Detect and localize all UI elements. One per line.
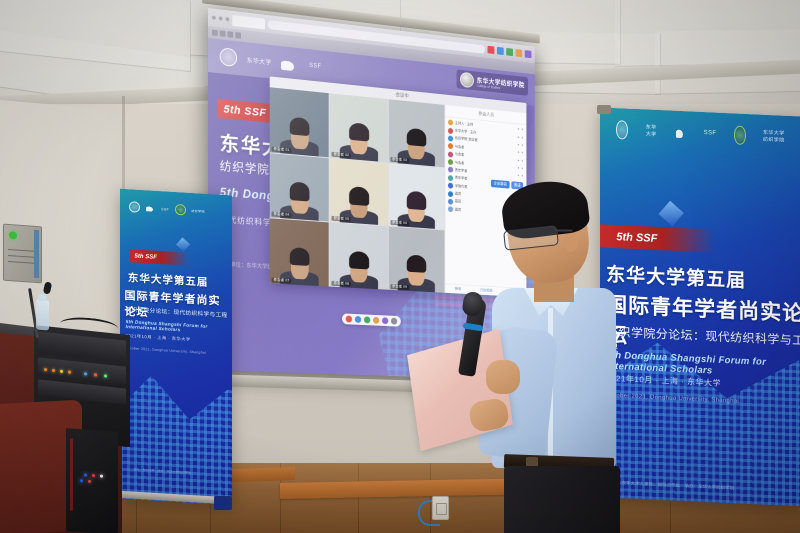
home-icon[interactable]: [235, 32, 241, 39]
participant-status-icons: ⏺ ⏹: [518, 143, 524, 147]
participant-video-grid: 参会者 01参会者 02参会者 03参会者 04参会者 05参会者 06参会者 …: [270, 87, 445, 293]
ssf-wave-logo-icon: [281, 56, 300, 72]
presenter-trousers: [504, 466, 620, 533]
avatar: [448, 159, 453, 165]
participant-name-label: 参会者 07: [272, 278, 292, 284]
forward-icon[interactable]: [220, 30, 226, 37]
chat-icon[interactable]: [382, 317, 388, 324]
college-of-textiles-seal-icon: [175, 204, 186, 216]
avatar: [448, 120, 453, 126]
slide-logo-ssf-text: SSF: [309, 63, 321, 70]
participant-video-tile[interactable]: 参会者 08: [330, 223, 388, 290]
extension-icon[interactable]: [488, 46, 495, 54]
participant-status-icons: ⏺ ⏹: [518, 135, 524, 139]
ssf-wave-logo-icon: [146, 205, 156, 213]
banner-right-top-cap: [597, 105, 611, 114]
participant-status-icons: ⏺ ⏹: [518, 174, 524, 178]
slide-logo-university-text: 东华大学: [247, 55, 272, 67]
participant-video-tile[interactable]: 参会者 04: [270, 153, 329, 222]
meeting-footer-button[interactable]: 静音: [455, 287, 461, 292]
tile-hair: [349, 186, 369, 205]
browser-dot-icon: [212, 15, 216, 19]
tile-hair: [407, 254, 426, 273]
banner-logo-ssf-text: SSF: [704, 130, 717, 137]
more-icon[interactable]: [391, 318, 397, 325]
presenter-hand-holding-mic: [486, 360, 520, 394]
participant-video-tile[interactable]: 参会者 09: [388, 227, 444, 293]
avatar: [448, 167, 453, 173]
tile-hair: [407, 191, 426, 210]
camera-icon[interactable]: [355, 316, 361, 323]
wall-control-box[interactable]: [3, 224, 42, 284]
share-icon[interactable]: [364, 316, 370, 323]
extension-icon[interactable]: [525, 50, 532, 58]
banner-logo-college-text: 纺织学院: [191, 209, 205, 214]
banner-ssf-badge-label: 5th SSF: [135, 253, 157, 260]
reload-icon[interactable]: [227, 31, 233, 38]
banner-logo-university-text: 东华大学: [646, 124, 659, 139]
control-box-strip: [34, 230, 39, 278]
rollup-banner-right: 东华大学 SSF 东华大学纺织学院 5th SSF 东华大学第五届 国际青年学者…: [600, 107, 800, 506]
donghua-university-seal-icon: [616, 120, 628, 140]
avatar: [460, 72, 474, 89]
presenter: [478, 188, 628, 533]
wall-power-outlet[interactable]: [432, 496, 449, 520]
presenter-ear: [564, 232, 578, 252]
tile-hair: [349, 122, 369, 142]
participant-status-icons: ⏺ ⏹: [518, 158, 524, 162]
banner-logo-ssf-text: SSF: [161, 207, 169, 211]
participant-video-tile[interactable]: 参会者 05: [330, 158, 388, 226]
avatar: [448, 143, 453, 149]
browser-tab[interactable]: [232, 14, 265, 29]
donghua-university-seal-icon: [220, 47, 237, 67]
mic-icon[interactable]: [345, 315, 351, 322]
participants-icon[interactable]: [373, 317, 379, 324]
status-led-icon: [9, 231, 17, 240]
avatar: [448, 151, 453, 157]
participant-name-label: 参会者 09: [390, 284, 409, 290]
tile-hair: [349, 251, 369, 270]
slide-ssf-badge-label: 5th SSF: [224, 103, 267, 119]
avatar: [448, 183, 453, 189]
avatar: [448, 199, 453, 205]
avatar: [448, 191, 453, 197]
tile-hair: [407, 127, 426, 146]
extension-icon[interactable]: [497, 47, 504, 55]
participant-name-label: 参会者 08: [332, 281, 351, 287]
college-of-textiles-seal-icon: [734, 125, 746, 145]
water-bottle-cap: [38, 294, 46, 301]
avatar: [448, 135, 453, 141]
participant-status-icons: ⏺ ⏹: [518, 151, 524, 155]
avatar: [448, 206, 453, 212]
participant-video-tile[interactable]: 参会者 03: [388, 99, 444, 167]
participant-video-tile[interactable]: 参会者 06: [388, 163, 444, 230]
browser-dot-icon: [226, 17, 230, 21]
extension-icon[interactable]: [506, 48, 513, 56]
conference-room-photo: 东华大学 SSF 5th SSF 东华大学 纺织学院分论坛 5th Donghu…: [0, 0, 800, 533]
extension-icon[interactable]: [516, 49, 523, 57]
participant-status-icons: ⏺ ⏹: [518, 166, 524, 170]
participant-status-icons: ⏺ ⏹: [518, 127, 524, 131]
tile-hair: [289, 247, 309, 266]
rollup-banner-left: SSF 纺织学院 5th SSF 东华大学第五届 国际青年学者尚实论坛 纺织学院…: [120, 189, 232, 506]
participant-video-tile[interactable]: 参会者 01: [270, 87, 329, 157]
participant-video-tile[interactable]: 参会者 07: [270, 219, 329, 287]
computer-tower[interactable]: [66, 428, 118, 533]
tile-hair: [289, 116, 309, 136]
participant-video-tile[interactable]: 参会者 02: [330, 93, 388, 162]
avatar: [448, 175, 453, 181]
meeting-toolbar[interactable]: [342, 313, 401, 326]
avatar: [448, 127, 453, 133]
donghua-university-seal-icon: [129, 202, 140, 214]
ssf-wave-logo-icon: [676, 126, 687, 138]
banner-left-foot: [214, 496, 232, 510]
tile-hair: [289, 182, 309, 202]
banner-logo-college-text: 东华大学纺织学院: [763, 129, 789, 144]
water-bottle: [36, 299, 49, 330]
browser-dot-icon: [219, 16, 223, 20]
back-icon[interactable]: [212, 29, 218, 36]
